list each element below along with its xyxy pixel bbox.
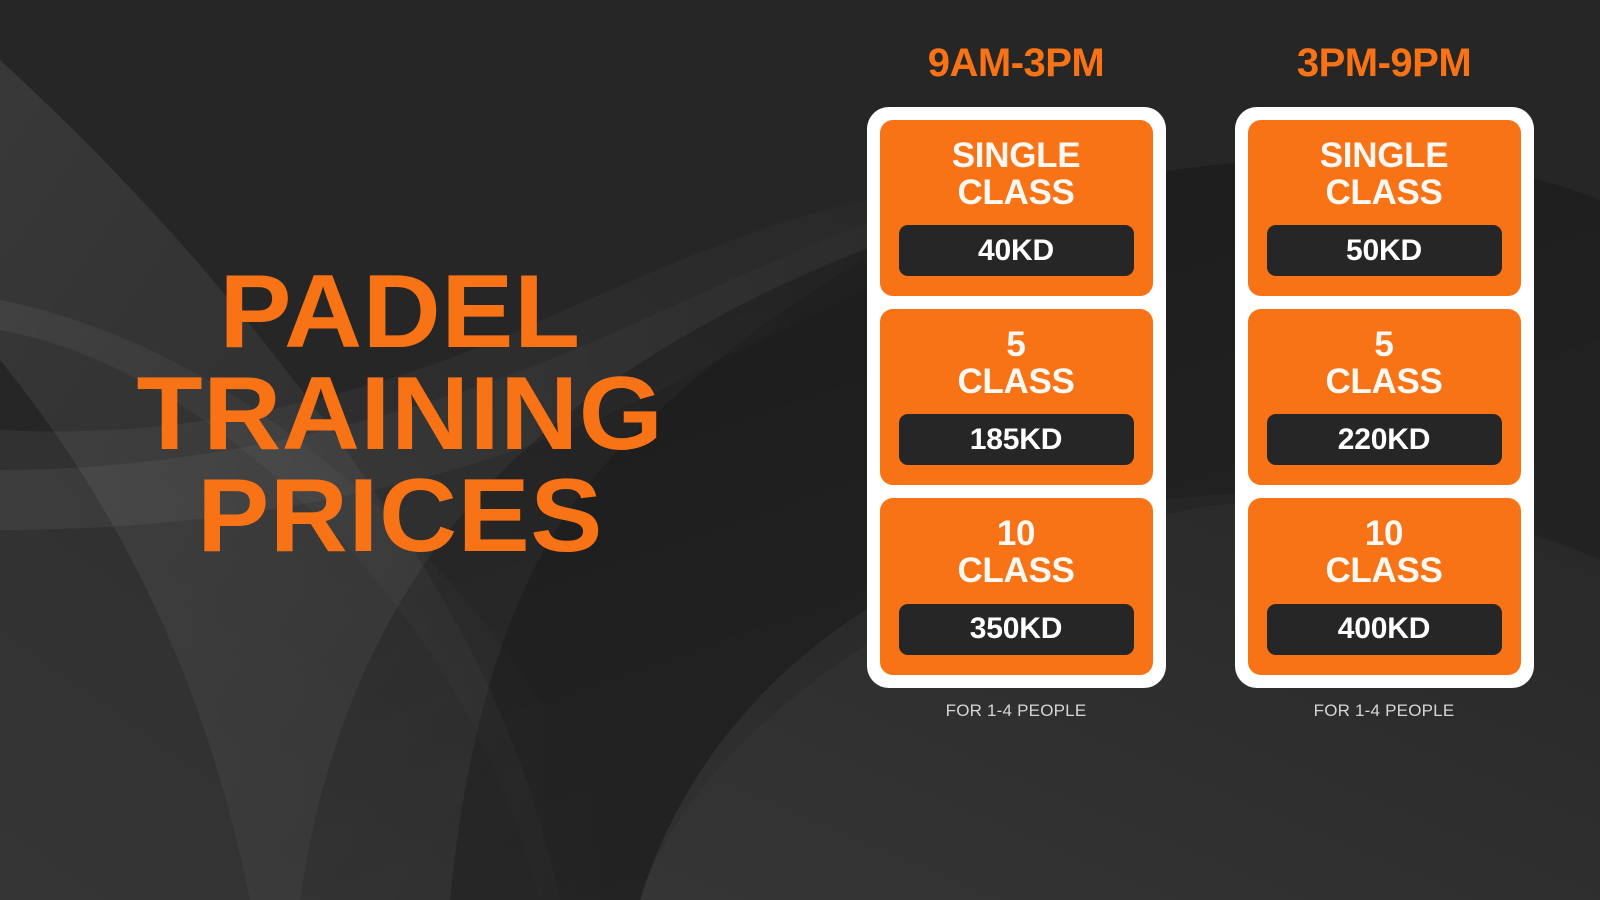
pricing-card-evening: SINGLE CLASS 50KD 5 CLASS 220KD 10 CLASS… [1235,107,1534,688]
price-value: 220KD [1338,423,1430,457]
tier-title: 10 CLASS [1267,515,1502,589]
price-value: 40KD [978,234,1054,268]
column-header-time-range: 3PM-9PM [1297,41,1471,86]
price-value: 400KD [1338,612,1430,646]
tier-title: SINGLE CLASS [899,137,1134,211]
price-value: 350KD [970,612,1062,646]
pricing-tier-5-class[interactable]: 5 CLASS 220KD [1248,309,1521,485]
price-value: 185KD [970,423,1062,457]
pricing-tier-single-class[interactable]: SINGLE CLASS 50KD [1248,120,1521,296]
pricing-tier-10-class[interactable]: 10 CLASS 400KD [1248,498,1521,674]
pricing-column-evening: 3PM-9PM SINGLE CLASS 50KD 5 CLASS 220KD … [1234,0,1534,900]
price-badge: 400KD [1267,604,1502,655]
page-title: PADEL TRAINING PRICES [0,262,800,568]
price-badge: 220KD [1267,414,1502,465]
title-line-prices: PRICES [0,466,816,568]
tier-title: 10 CLASS [899,515,1134,589]
column-header-time-range: 9AM-3PM [928,41,1105,86]
tier-title: 5 CLASS [1267,326,1502,400]
title-line-training: TRAINING [0,364,816,466]
title-line-padel: PADEL [0,262,816,364]
tier-title: SINGLE CLASS [1267,137,1502,211]
price-badge: 185KD [899,414,1134,465]
price-badge: 40KD [899,225,1134,276]
price-value: 50KD [1346,234,1422,268]
padel-pricing-poster: PADEL TRAINING PRICES 9AM-3PM SINGLE CLA… [0,0,1600,900]
tier-title: 5 CLASS [899,326,1134,400]
card-footnote: FOR 1-4 PEOPLE [1314,701,1455,721]
pricing-tier-5-class[interactable]: 5 CLASS 185KD [880,309,1153,485]
pricing-tier-10-class[interactable]: 10 CLASS 350KD [880,498,1153,674]
price-badge: 350KD [899,604,1134,655]
pricing-column-morning: 9AM-3PM SINGLE CLASS 40KD 5 CLASS 185KD … [866,0,1166,900]
card-footnote: FOR 1-4 PEOPLE [946,701,1087,721]
price-badge: 50KD [1267,225,1502,276]
pricing-card-morning: SINGLE CLASS 40KD 5 CLASS 185KD 10 CLASS… [867,107,1166,688]
pricing-columns: 9AM-3PM SINGLE CLASS 40KD 5 CLASS 185KD … [800,0,1600,900]
pricing-tier-single-class[interactable]: SINGLE CLASS 40KD [880,120,1153,296]
